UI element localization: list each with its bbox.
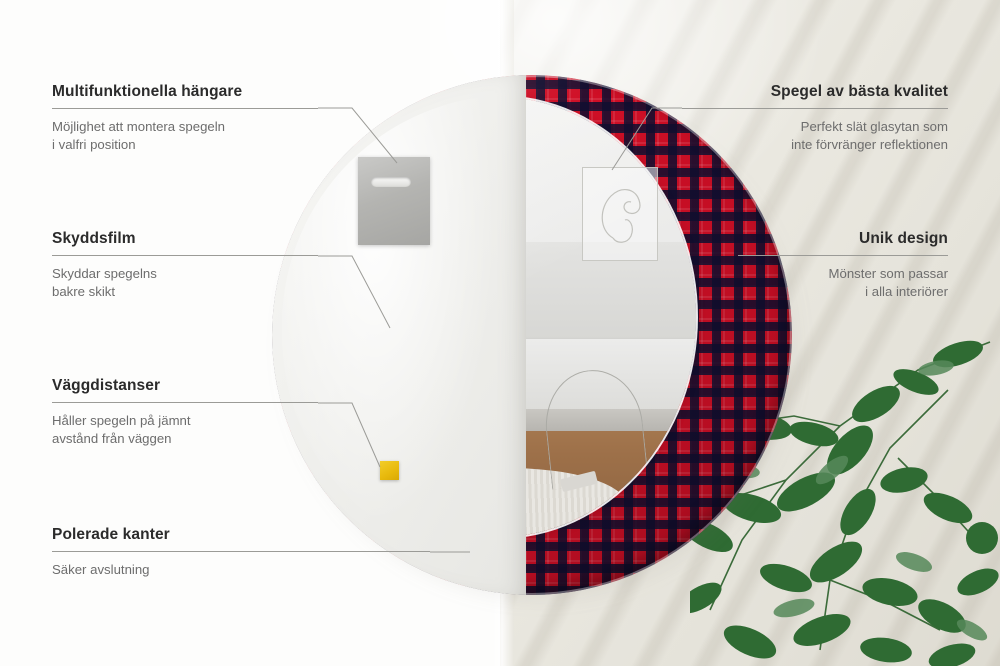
desc-line: bakre skikt bbox=[52, 284, 115, 299]
reflection-wall-art bbox=[582, 167, 658, 261]
desc-line: Mönster som passar bbox=[829, 266, 948, 281]
callout-design-description: Mönster som passar i alla interiörer bbox=[738, 265, 948, 301]
callout-unique-design: Unik design Mönster som passar i alla in… bbox=[738, 230, 948, 301]
callout-edges-rule bbox=[52, 551, 430, 552]
wall-spacer-block bbox=[380, 461, 399, 480]
callout-film-description: Skyddar spegelns bakre skikt bbox=[52, 265, 318, 301]
wall-hanger-plate bbox=[358, 157, 430, 245]
callout-design-rule bbox=[738, 255, 948, 256]
infographic-canvas: Multifunktionella hängare Möjlighet att … bbox=[0, 0, 1000, 666]
callout-wall-spacers: Väggdistanser Håller spegeln på jämnt av… bbox=[52, 377, 318, 448]
callout-quality-rule bbox=[682, 108, 948, 109]
desc-line: Skyddar spegelns bbox=[52, 266, 157, 281]
callout-hangers-title: Multifunktionella hängare bbox=[52, 83, 318, 101]
callout-hangers: Multifunktionella hängare Möjlighet att … bbox=[52, 83, 318, 154]
callout-spacers-description: Håller spegeln på jämnt avstånd från väg… bbox=[52, 412, 318, 448]
callout-edges-title: Polerade kanter bbox=[52, 526, 430, 544]
callout-quality-title: Spegel av bästa kvalitet bbox=[682, 83, 948, 101]
desc-line: i alla interiörer bbox=[865, 284, 948, 299]
callout-quality-description: Perfekt slät glasytan som inte förvränge… bbox=[682, 118, 948, 154]
callout-protective-film: Skyddsfilm Skyddar spegelns bakre skikt bbox=[52, 230, 318, 301]
callout-edges-description: Säker avslutning bbox=[52, 561, 430, 579]
callout-hangers-rule bbox=[52, 108, 318, 109]
callout-spacers-title: Väggdistanser bbox=[52, 377, 318, 395]
desc-line: Håller spegeln på jämnt bbox=[52, 413, 191, 428]
callout-mirror-quality: Spegel av bästa kvalitet Perfekt slät gl… bbox=[682, 83, 948, 154]
callout-design-title: Unik design bbox=[738, 230, 948, 248]
callout-film-rule bbox=[52, 255, 318, 256]
callout-film-title: Skyddsfilm bbox=[52, 230, 318, 248]
desc-line: Säker avslutning bbox=[52, 562, 150, 577]
desc-line: Perfekt slät glasytan som bbox=[801, 119, 948, 134]
desc-line: avstånd från väggen bbox=[52, 431, 172, 446]
desc-line: inte förvränger reflektionen bbox=[791, 137, 948, 152]
hanger-keyhole-slot bbox=[371, 177, 411, 187]
callout-polished-edges: Polerade kanter Säker avslutning bbox=[52, 526, 430, 579]
callout-spacers-rule bbox=[52, 402, 318, 403]
desc-line: Möjlighet att montera spegeln bbox=[52, 119, 225, 134]
desc-line: i valfri position bbox=[52, 137, 136, 152]
callout-hangers-description: Möjlighet att montera spegeln i valfri p… bbox=[52, 118, 318, 154]
